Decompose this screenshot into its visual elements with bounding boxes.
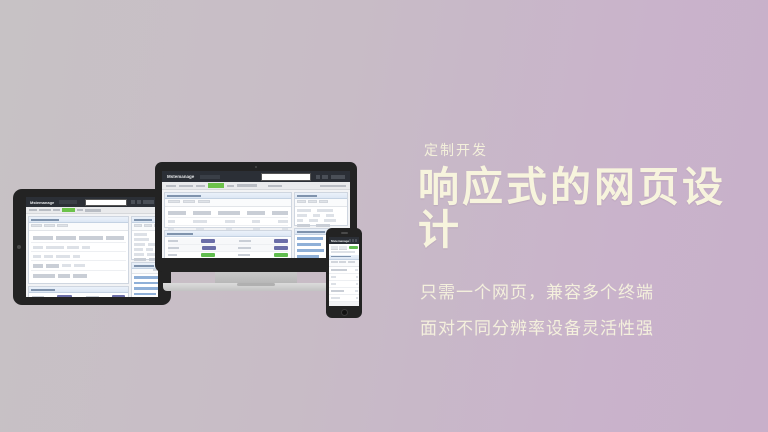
detail-value [146, 248, 153, 251]
monitor-ui-brand: Mstemanage [167, 174, 194, 179]
phone-panel-tabs [329, 260, 359, 268]
panel-title-bar [167, 233, 193, 235]
monitor-summary-panel [164, 192, 292, 228]
table-cell [356, 276, 358, 279]
table-cell [331, 269, 347, 272]
table-cell [62, 264, 71, 267]
table-row[interactable] [168, 218, 288, 226]
table-cell [168, 240, 178, 243]
tablet-ui-icon-button[interactable] [137, 200, 141, 204]
detail-value [326, 214, 334, 217]
table-cell [168, 254, 177, 257]
table-cell [56, 236, 76, 240]
monitor-ui-search-input[interactable] [261, 173, 311, 181]
panel-tabs [295, 199, 347, 207]
panel-title-bar [331, 256, 351, 258]
table-cell [56, 255, 70, 258]
tab-item[interactable] [348, 261, 355, 264]
monitor-screen: Mstemanage [162, 171, 350, 258]
table-cell [238, 254, 250, 257]
tablet-device: Mstemanage [13, 189, 171, 305]
tab-item[interactable] [297, 200, 306, 203]
panel-title-bar [134, 265, 154, 267]
status-badge [112, 295, 125, 297]
table-row[interactable] [31, 243, 126, 252]
tablet-activity-panel [131, 262, 158, 297]
detail-value [134, 248, 143, 251]
list-item[interactable] [134, 293, 156, 296]
detail-value [317, 209, 333, 212]
table-cell [58, 274, 70, 278]
detail-value [134, 233, 147, 236]
toolbar-chip[interactable] [331, 246, 338, 250]
promo-banner: Mstemanage [0, 0, 768, 432]
detail-value [309, 219, 318, 222]
table-cell [33, 236, 53, 240]
list-item[interactable] [134, 287, 158, 290]
tablet-ui-topbar: Mstemanage [26, 197, 158, 207]
table-cell [73, 274, 87, 278]
table-cell [33, 264, 43, 268]
webcam-icon [255, 166, 257, 168]
panel-title-bar [297, 231, 325, 233]
tab-item[interactable] [319, 200, 328, 203]
subtitle-line-2: 面对不同分辨率设备灵活性强 [420, 314, 758, 339]
tablet-ui-breadcrumb [26, 207, 158, 214]
table-row[interactable] [31, 252, 126, 261]
monitor-ui-topbar: Mstemanage [162, 171, 350, 182]
table-cell [86, 296, 99, 298]
monitor-records-panel [164, 230, 292, 258]
monitor-ui-user-menu[interactable] [331, 175, 345, 179]
detail-value [297, 224, 310, 227]
toolbar-text [331, 251, 355, 253]
table-row[interactable] [29, 293, 128, 297]
status-badge [201, 253, 215, 257]
table-cell [82, 246, 90, 249]
table-row[interactable] [168, 238, 288, 245]
subtitle-line-1: 只需一个网页，兼容多个终端 [420, 278, 758, 303]
status-badge [274, 246, 288, 250]
table-cell [73, 255, 80, 258]
detail-value [324, 219, 336, 222]
tab-item[interactable] [308, 200, 317, 203]
detail-value [297, 214, 307, 217]
list-item-link[interactable] [297, 237, 323, 240]
tab-item[interactable] [331, 261, 338, 264]
smartphone-device: Mstemanage [326, 228, 362, 318]
detail-value [134, 253, 144, 256]
status-badge [201, 239, 215, 243]
table-row[interactable] [31, 271, 126, 281]
table-cell [238, 247, 251, 250]
panel-title-bar [297, 195, 317, 197]
phone-home-button-icon[interactable] [341, 309, 348, 316]
tab-item[interactable] [168, 200, 180, 203]
table-row[interactable] [168, 252, 288, 258]
list-item-link[interactable] [297, 255, 319, 258]
table-cell [46, 264, 59, 268]
table-cell [33, 255, 41, 258]
table-cell [67, 246, 79, 249]
phone-bezel: Mstemanage [326, 228, 362, 318]
tablet-ui-body [26, 214, 158, 297]
status-badge [274, 253, 288, 257]
breadcrumb-item[interactable] [196, 185, 205, 187]
subtitle-block: 只需一个网页，兼容多个终端 面对不同分辨率设备灵活性强 [418, 278, 758, 339]
table-cell [106, 236, 124, 240]
kicker-text: 定制开发 [424, 140, 758, 160]
monitor-ui-body [162, 190, 350, 258]
tablet-details-panel [131, 216, 158, 260]
headline-text: 响应式的网页设计 [418, 166, 758, 252]
breadcrumb-item[interactable] [320, 185, 346, 187]
status-badge [274, 239, 288, 243]
detail-value [297, 209, 311, 212]
tab-item[interactable] [44, 224, 55, 227]
phone-screen: Mstemanage [329, 237, 359, 306]
tab-item[interactable] [339, 261, 346, 264]
table-row[interactable] [31, 261, 126, 271]
tablet-records-panel [28, 286, 129, 297]
table-cell [33, 274, 55, 278]
phone-ui-topbar: Mstemanage [329, 237, 359, 244]
breadcrumb-item-active[interactable] [208, 183, 224, 188]
table-cell [356, 283, 358, 286]
tab-item[interactable] [144, 224, 152, 227]
table-row[interactable] [31, 233, 126, 243]
status-badge [57, 295, 72, 297]
list-item[interactable] [134, 282, 158, 285]
breadcrumb-item[interactable] [237, 184, 257, 188]
table-cell [225, 220, 235, 223]
phone-mock-dashboard: Mstemanage [329, 237, 359, 306]
panel-title-bar [134, 219, 152, 221]
phone-ui-brand: Mstemanage [331, 239, 349, 243]
table-cell [331, 283, 336, 286]
tablet-bezel: Mstemanage [13, 189, 171, 305]
list-item[interactable] [134, 276, 158, 279]
panel-tabs [29, 223, 128, 231]
list-item-link[interactable] [297, 243, 321, 246]
tablet-ui-nav-item[interactable] [59, 200, 77, 204]
table-cell [355, 290, 358, 293]
table-cell [79, 236, 103, 240]
table-cell [278, 220, 288, 223]
table-cell [356, 297, 358, 300]
tablet-mock-dashboard: Mstemanage [26, 197, 158, 297]
table-cell [331, 290, 344, 293]
detail-value [134, 238, 149, 241]
tablet-ui-icon-button[interactable] [131, 200, 135, 204]
table-cell [74, 264, 85, 267]
detail-value [313, 214, 320, 217]
monitor-details-panel [294, 192, 348, 226]
monitor-ui-icon-button[interactable] [316, 175, 320, 179]
table-cell [355, 269, 358, 272]
table-cell [252, 220, 260, 223]
table-row[interactable] [168, 245, 288, 252]
tablet-summary-panel [28, 216, 129, 284]
breadcrumb-item[interactable] [166, 185, 176, 187]
breadcrumb-item[interactable] [227, 185, 234, 187]
tab-item[interactable] [134, 224, 142, 227]
detail-value [316, 224, 330, 227]
table-cell [168, 247, 179, 250]
table-cell [44, 255, 53, 258]
phone-ui-toolbar [329, 244, 359, 251]
tablet-ui-brand: Mstemanage [30, 200, 54, 205]
monitor-stand-notch [237, 283, 275, 286]
table-row[interactable] [329, 288, 359, 295]
table-cell [331, 297, 340, 300]
tab-item[interactable] [183, 200, 195, 203]
table-cell [168, 220, 175, 223]
breadcrumb-item[interactable] [29, 209, 37, 211]
toolbar-chip[interactable] [339, 246, 347, 250]
breadcrumb-item[interactable] [268, 185, 282, 187]
detail-value [134, 243, 145, 246]
tab-item[interactable] [198, 200, 210, 203]
detail-value [297, 219, 303, 222]
breadcrumb-item[interactable] [85, 209, 101, 212]
tab-item[interactable] [57, 224, 68, 227]
breadcrumb-item[interactable] [77, 209, 83, 211]
panel-title-bar [31, 289, 55, 291]
table-row[interactable] [329, 295, 359, 302]
monitor-ui-nav-item[interactable] [200, 175, 220, 179]
phone-speaker-icon [341, 232, 348, 234]
tablet-ui-search-input[interactable] [85, 199, 127, 206]
table-cell [168, 211, 186, 215]
tab-item[interactable] [31, 224, 42, 227]
table-cell [247, 211, 265, 215]
table-cell [32, 296, 44, 298]
breadcrumb-item[interactable] [179, 185, 193, 187]
monitor-mock-dashboard: Mstemanage [162, 171, 350, 258]
primary-action-button[interactable] [349, 246, 358, 250]
detail-value [134, 258, 146, 261]
table-cell [218, 211, 240, 215]
table-row[interactable] [329, 267, 359, 274]
breadcrumb-item-active[interactable] [62, 208, 75, 212]
phone-ui-icon-button[interactable] [352, 239, 354, 242]
monitor-ui-breadcrumb [162, 182, 350, 190]
table-row[interactable] [329, 281, 359, 288]
breadcrumb-item[interactable] [39, 209, 51, 211]
table-row[interactable] [329, 274, 359, 281]
panel-title-bar [167, 195, 201, 197]
copy-block: 定制开发 响应式的网页设计 只需一个网页，兼容多个终端 面对不同分辨率设备灵活性… [418, 140, 758, 350]
table-cell [239, 240, 251, 243]
tablet-home-button-icon[interactable] [17, 245, 21, 249]
table-row[interactable] [168, 209, 288, 218]
table-cell [193, 220, 207, 223]
list-item-link[interactable] [297, 249, 324, 252]
panel-tabs [165, 199, 291, 207]
table-cell [46, 246, 64, 249]
phone-ui-icon-button[interactable] [349, 239, 351, 242]
table-cell [193, 211, 211, 215]
tablet-screen: Mstemanage [26, 197, 158, 297]
tablet-ui-user-menu[interactable] [143, 200, 154, 204]
table-cell [272, 211, 288, 215]
table-cell [33, 246, 43, 249]
monitor-ui-icon-button[interactable] [322, 175, 328, 179]
panel-title-bar [31, 219, 59, 221]
phone-ui-menu-button[interactable] [355, 239, 357, 242]
table-cell [331, 276, 336, 279]
status-badge [202, 246, 216, 250]
breadcrumb-item[interactable] [53, 209, 60, 211]
